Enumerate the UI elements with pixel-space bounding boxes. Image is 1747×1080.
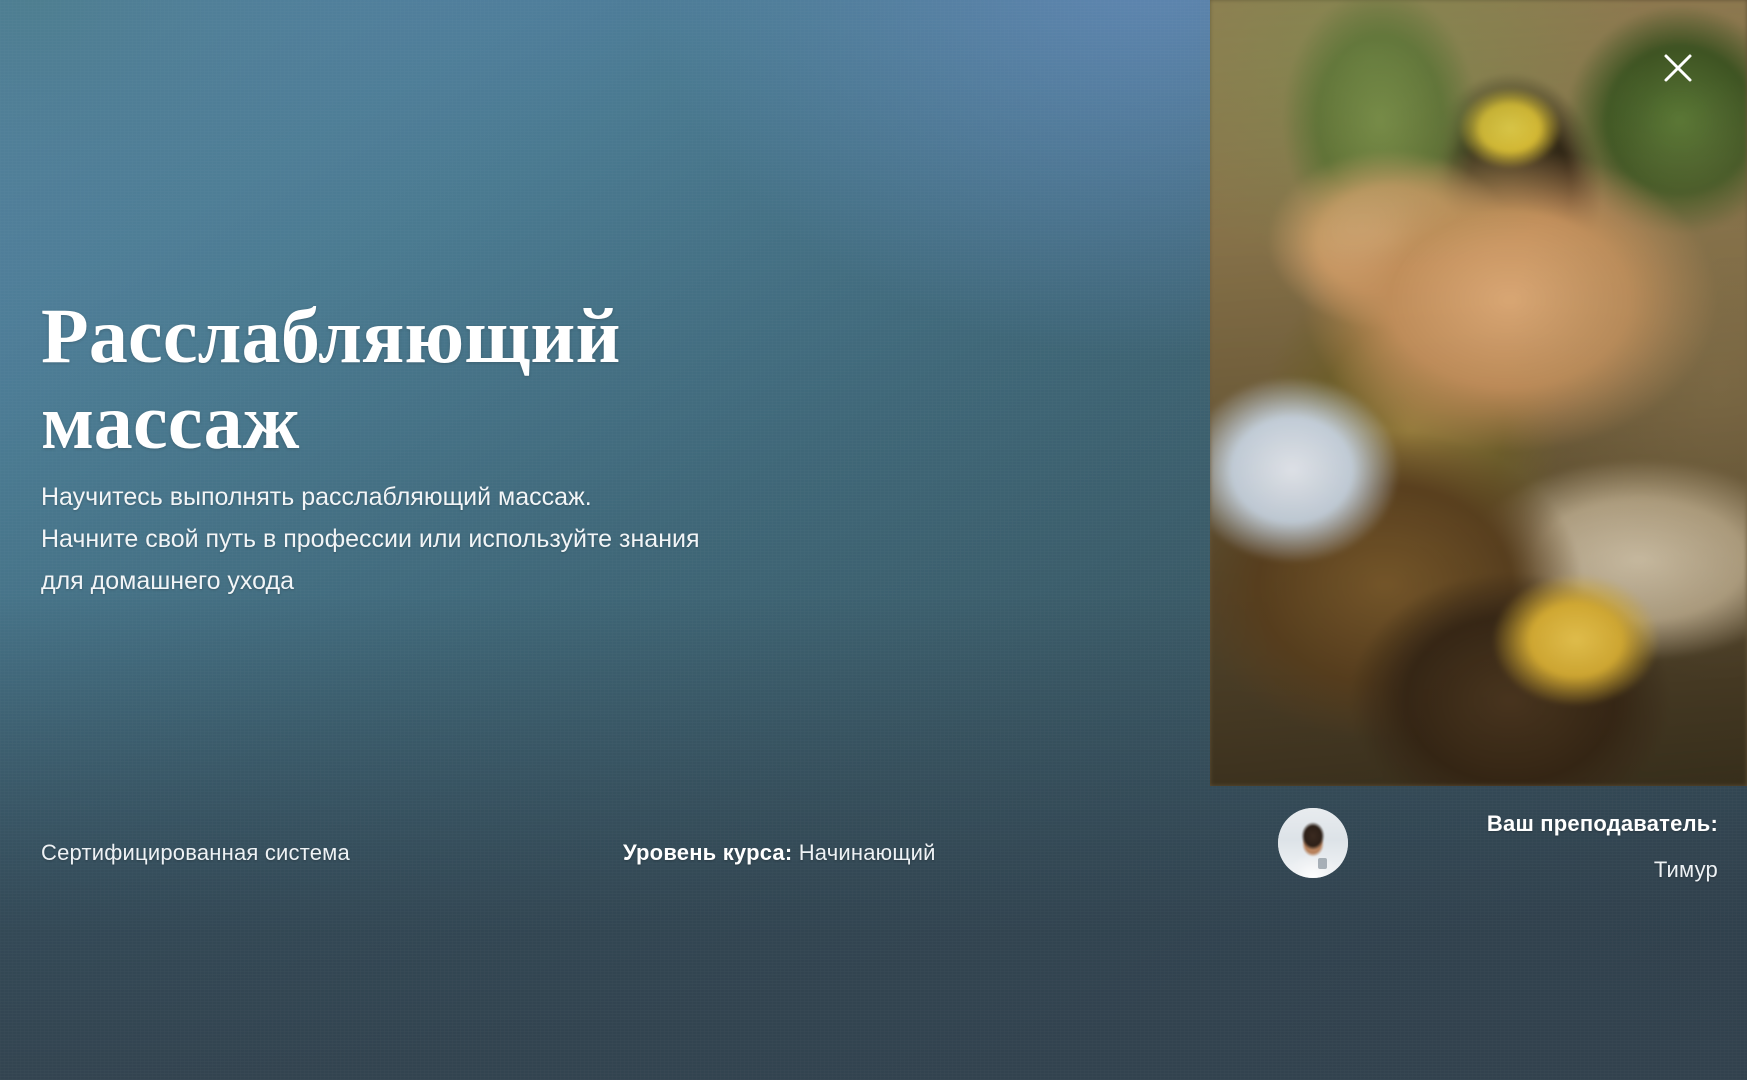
teacher-text: Ваш преподаватель: Тимур: [1368, 800, 1718, 892]
course-level: Уровень курса: Начинающий: [623, 840, 936, 866]
certification-text: Сертифицированная система: [41, 840, 350, 866]
hero-subtitle: Научитесь выполнять расслабляющий массаж…: [41, 476, 861, 602]
avatar: [1278, 808, 1348, 878]
hero-photo-overlay: [1210, 0, 1747, 786]
avatar-photo: [1278, 808, 1348, 878]
course-promo-screen: Расслабляющий массаж Научитесь выполнять…: [0, 0, 1747, 1080]
avatar-badge-icon: [1318, 858, 1327, 869]
course-level-value: Начинающий: [799, 840, 936, 865]
close-button[interactable]: [1652, 42, 1704, 94]
teacher-name: Тимур: [1368, 848, 1718, 892]
hero-photo: [1210, 0, 1747, 786]
course-level-label: Уровень курса:: [623, 840, 792, 865]
footer-bar: Сертифицированная система Уровень курса:…: [0, 800, 1747, 1080]
close-icon: [1661, 51, 1695, 85]
teacher-label: Ваш преподаватель:: [1368, 800, 1718, 848]
teacher-block: Ваш преподаватель: Тимур: [1278, 800, 1718, 940]
page-title: Расслабляющий массаж: [41, 293, 1081, 465]
